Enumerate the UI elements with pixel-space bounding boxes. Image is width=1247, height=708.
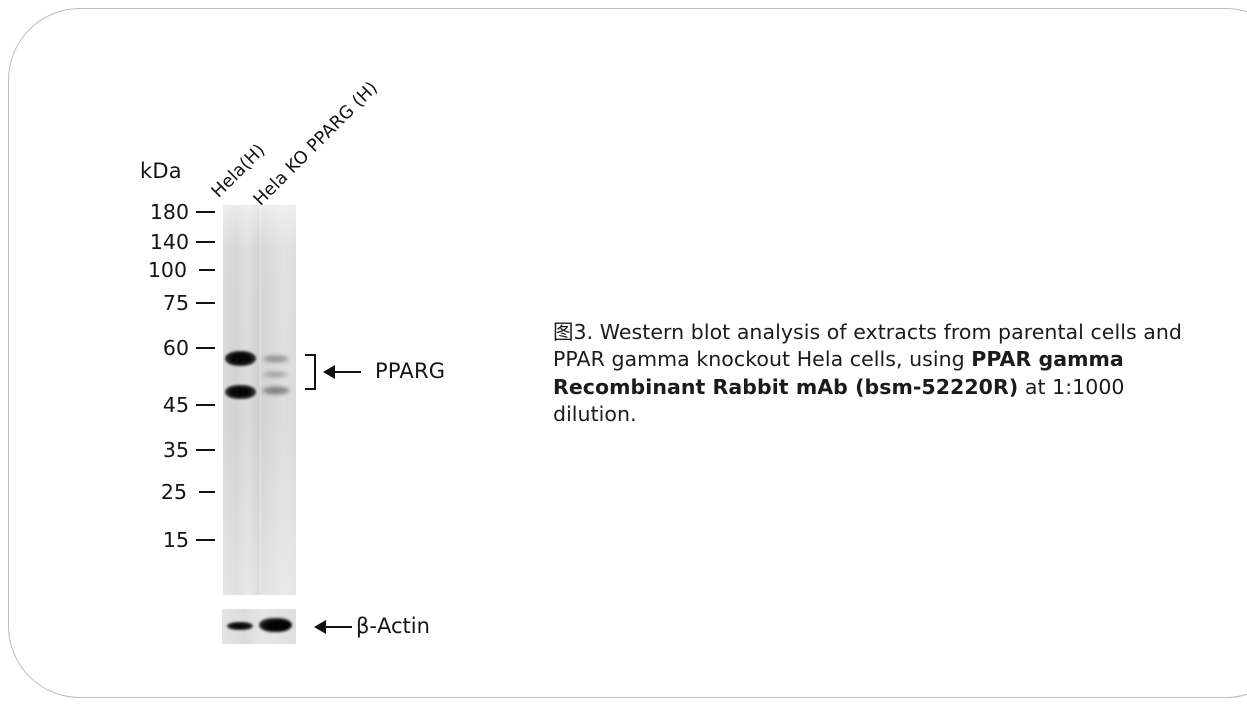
arrow-head-icon: [323, 365, 335, 379]
mw-value: 60: [163, 338, 189, 359]
mw-value: 25: [161, 482, 187, 503]
western-blot-figure: kDa Hela(H) Hela KO PPARG (H) 180 140 10…: [9, 9, 549, 708]
lane-label-hela-ko-pparg: Hela KO PPARG (H): [250, 78, 382, 210]
mw-value: 140: [150, 232, 189, 253]
mw-value: 180: [150, 202, 189, 223]
mw-tick-icon: [199, 491, 215, 493]
band-pparg-lane2-upper: [263, 355, 289, 363]
beta-actin-arrow-icon: [314, 620, 352, 634]
mw-marker-180: 180: [137, 201, 215, 223]
mw-tick-icon: [196, 241, 215, 243]
mw-value: 45: [163, 395, 189, 416]
arrow-shaft-icon: [326, 626, 352, 629]
band-pparg-lane2-lower: [262, 386, 290, 395]
pparg-arrow-icon: [323, 365, 361, 379]
mw-marker-60: 60: [137, 337, 215, 359]
mw-marker-35: 35: [137, 439, 215, 461]
band-pparg-lane1-lower: [225, 385, 256, 399]
band-bracket-icon: [305, 354, 316, 390]
mw-marker-25: 25: [137, 481, 215, 503]
mw-marker-75: 75: [137, 292, 215, 314]
mw-tick-icon: [196, 211, 215, 213]
mw-value: 35: [163, 440, 189, 461]
band-beta-actin-lane1: [227, 622, 253, 630]
mw-tick-icon: [196, 449, 215, 451]
beta-actin-target-label: β-Actin: [356, 614, 430, 638]
blot-membrane-beta-actin: [222, 609, 296, 644]
mw-marker-100: 100: [137, 259, 215, 281]
pparg-target-label: PPARG: [375, 359, 445, 383]
band-beta-actin-lane2: [259, 618, 292, 632]
mw-tick-icon: [199, 269, 215, 271]
mw-value: 100: [148, 260, 187, 281]
mw-tick-icon: [196, 539, 215, 541]
mw-tick-icon: [196, 302, 215, 304]
figure-card: kDa Hela(H) Hela KO PPARG (H) 180 140 10…: [8, 8, 1247, 698]
band-pparg-lane1-upper: [225, 351, 256, 366]
mw-marker-45: 45: [137, 394, 215, 416]
arrow-shaft-icon: [335, 371, 361, 374]
arrow-head-icon: [314, 620, 326, 634]
kda-axis-label: kDa: [140, 159, 182, 183]
mw-tick-icon: [196, 347, 215, 349]
mw-marker-140: 140: [137, 231, 215, 253]
mw-value: 15: [163, 530, 189, 551]
band-pparg-lane2-mid: [263, 371, 288, 378]
figure-caption: 图3. Western blot analysis of extracts fr…: [553, 319, 1213, 428]
mw-marker-15: 15: [137, 529, 215, 551]
mw-value: 75: [163, 293, 189, 314]
mw-tick-icon: [196, 404, 215, 406]
blot-membrane-pparg: [223, 205, 296, 595]
